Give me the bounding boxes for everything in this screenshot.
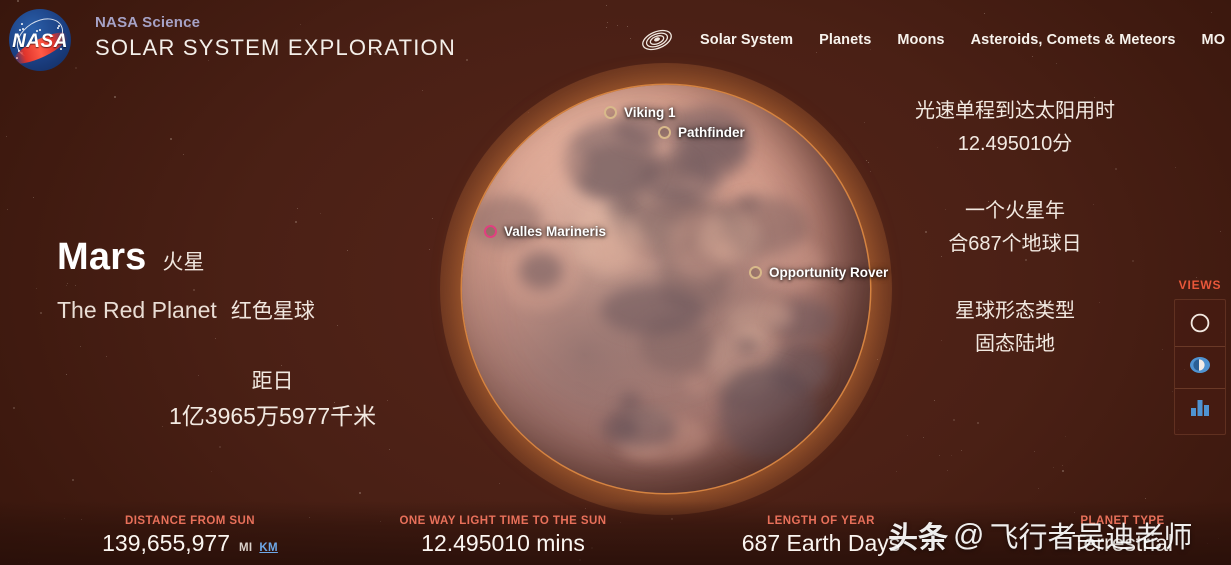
watermark: 头条 @ 飞行者吴迪老师	[888, 513, 1193, 557]
stat-value: 687 Earth Days	[742, 530, 901, 557]
nav-item-moons[interactable]: Moons	[897, 32, 944, 48]
stat-value-row: 139,655,977 MI KM	[60, 530, 320, 557]
circle-outline-icon	[1189, 312, 1211, 339]
planet-visualization[interactable]	[462, 85, 870, 493]
bar-chart-icon	[1188, 396, 1212, 423]
view-phase-button[interactable]	[1175, 346, 1225, 388]
nav-item-planets[interactable]: Planets	[819, 32, 871, 48]
annotation-line2: 12.495010分	[886, 128, 1144, 161]
annotation-line1: 星球形态类型	[886, 295, 1144, 328]
stat-value: 139,655,977	[102, 530, 230, 557]
marker-opportunity-rover[interactable]: Opportunity Rover	[749, 265, 888, 280]
brand-eyebrow: NASA Science	[95, 14, 456, 32]
nav-item-asteroids-comets-meteors[interactable]: Asteroids, Comets & Meteors	[971, 32, 1176, 48]
marker-label: Viking 1	[624, 105, 676, 120]
views-button-group	[1174, 299, 1226, 435]
view-chart-button[interactable]	[1175, 388, 1225, 430]
view-globe-button[interactable]	[1175, 304, 1225, 346]
galaxy-icon[interactable]	[640, 26, 674, 54]
marker-viking-1[interactable]: Viking 1	[604, 105, 676, 120]
stat-distance-from-sun: DISTANCE FROM SUN 139,655,977 MI KM	[60, 515, 320, 557]
nav-item-more[interactable]: MO	[1202, 32, 1226, 48]
annotation-line2: 固态陆地	[886, 328, 1144, 361]
main-nav: Solar System Planets Moons Asteroids, Co…	[640, 26, 1225, 54]
mars-globe[interactable]	[462, 85, 870, 493]
marker-ring-icon	[749, 266, 762, 279]
marker-valles-marineris[interactable]: Valles Marineris	[484, 224, 606, 239]
planet-name-en: Mars	[57, 236, 147, 279]
marker-label: Opportunity Rover	[769, 265, 888, 280]
unit-mi[interactable]: MI	[239, 542, 252, 554]
annotation-line2: 合687个地球日	[886, 228, 1144, 261]
watermark-author: 飞行者吴迪老师	[989, 514, 1192, 556]
annotation-line1: 一个火星年	[886, 195, 1144, 228]
watermark-logo: 头条	[888, 513, 948, 557]
brand: NASA Science SOLAR SYSTEM EXPLORATION	[95, 14, 456, 61]
planet-name-cn: 火星	[163, 246, 205, 276]
distance-annotation-line2: 1亿3965万5977千米	[169, 399, 376, 435]
distance-annotation-line1: 距日	[169, 366, 376, 399]
stat-label: DISTANCE FROM SUN	[60, 515, 320, 527]
planet-tagline: The Red Planet 红色星球	[57, 295, 315, 325]
phase-eye-icon	[1188, 354, 1212, 381]
page-root: NASA NASA Science SOLAR SYSTEM EXPLORATI…	[0, 0, 1231, 565]
stat-value-row: 12.495010 mins	[372, 530, 634, 557]
nasa-logo[interactable]: NASA	[9, 9, 71, 71]
distance-annotation: 距日 1亿3965万5977千米	[169, 366, 376, 434]
right-annotations: 光速单程到达太阳用时 12.495010分 一个火星年 合687个地球日 星球形…	[886, 95, 1144, 395]
marker-ring-icon	[484, 225, 497, 238]
annotation-line1: 光速单程到达太阳用时	[886, 95, 1144, 128]
unit-km[interactable]: KM	[259, 542, 278, 554]
stat-one-way-light-time: ONE WAY LIGHT TIME TO THE SUN 12.495010 …	[372, 515, 634, 557]
nasa-wordmark: NASA	[9, 31, 71, 53]
watermark-at-symbol: @	[953, 517, 984, 553]
site-header: NASA NASA Science SOLAR SYSTEM EXPLORATI…	[0, 0, 1231, 78]
unit-toggle[interactable]: MI KM	[239, 542, 278, 554]
page-title: SOLAR SYSTEM EXPLORATION	[95, 35, 456, 61]
annotation-year-length: 一个火星年 合687个地球日	[886, 195, 1144, 261]
stat-label: ONE WAY LIGHT TIME TO THE SUN	[372, 515, 634, 527]
annotation-light-time: 光速单程到达太阳用时 12.495010分	[886, 95, 1144, 161]
marker-label: Pathfinder	[678, 125, 745, 140]
views-panel-title: VIEWS	[1174, 278, 1226, 292]
annotation-planet-type: 星球形态类型 固态陆地	[886, 295, 1144, 361]
marker-ring-icon	[658, 126, 671, 139]
marker-label: Valles Marineris	[504, 224, 606, 239]
marker-ring-icon	[604, 106, 617, 119]
nav-item-solar-system[interactable]: Solar System	[700, 32, 793, 48]
planet-heading-block: Mars 火星 The Red Planet 红色星球	[57, 236, 315, 325]
planet-tagline-cn: 红色星球	[231, 295, 315, 325]
views-panel: VIEWS	[1174, 278, 1226, 435]
planet-tagline-en: The Red Planet	[57, 297, 217, 324]
stat-value: 12.495010 mins	[421, 530, 585, 557]
planet-name: Mars 火星	[57, 236, 315, 279]
marker-pathfinder[interactable]: Pathfinder	[658, 125, 745, 140]
